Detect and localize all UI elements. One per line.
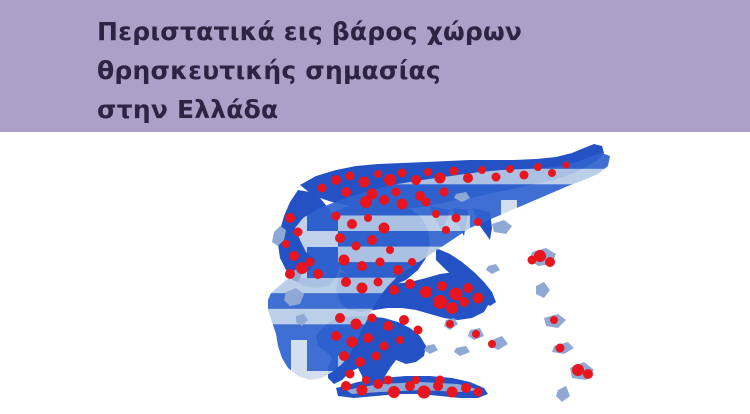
map-canvas xyxy=(0,132,750,414)
screenshot-root: Περιστατικά εις βάρος χώρων θρησκευτικής… xyxy=(0,0,750,414)
title-line-2: θρησκευτικής σημασίας xyxy=(97,51,697,90)
mainland-shapes xyxy=(140,140,610,414)
island-cyclades-5 xyxy=(424,344,438,354)
title-banner: Περιστατικά εις βάρος χώρων θρησκευτικής… xyxy=(0,0,750,132)
island-chios xyxy=(536,282,550,298)
island-karpathos xyxy=(556,386,570,402)
page-title: Περιστατικά εις βάρος χώρων θρησκευτικής… xyxy=(97,12,697,129)
title-line-1: Περιστατικά εις βάρος χώρων xyxy=(97,12,697,51)
island-limnos xyxy=(492,220,512,234)
island-cyclades-4 xyxy=(454,346,470,356)
title-line-3: στην Ελλάδα xyxy=(97,90,697,129)
greece-map-svg xyxy=(140,140,610,414)
map-of-greece xyxy=(140,140,610,414)
island-skyros xyxy=(486,264,500,274)
